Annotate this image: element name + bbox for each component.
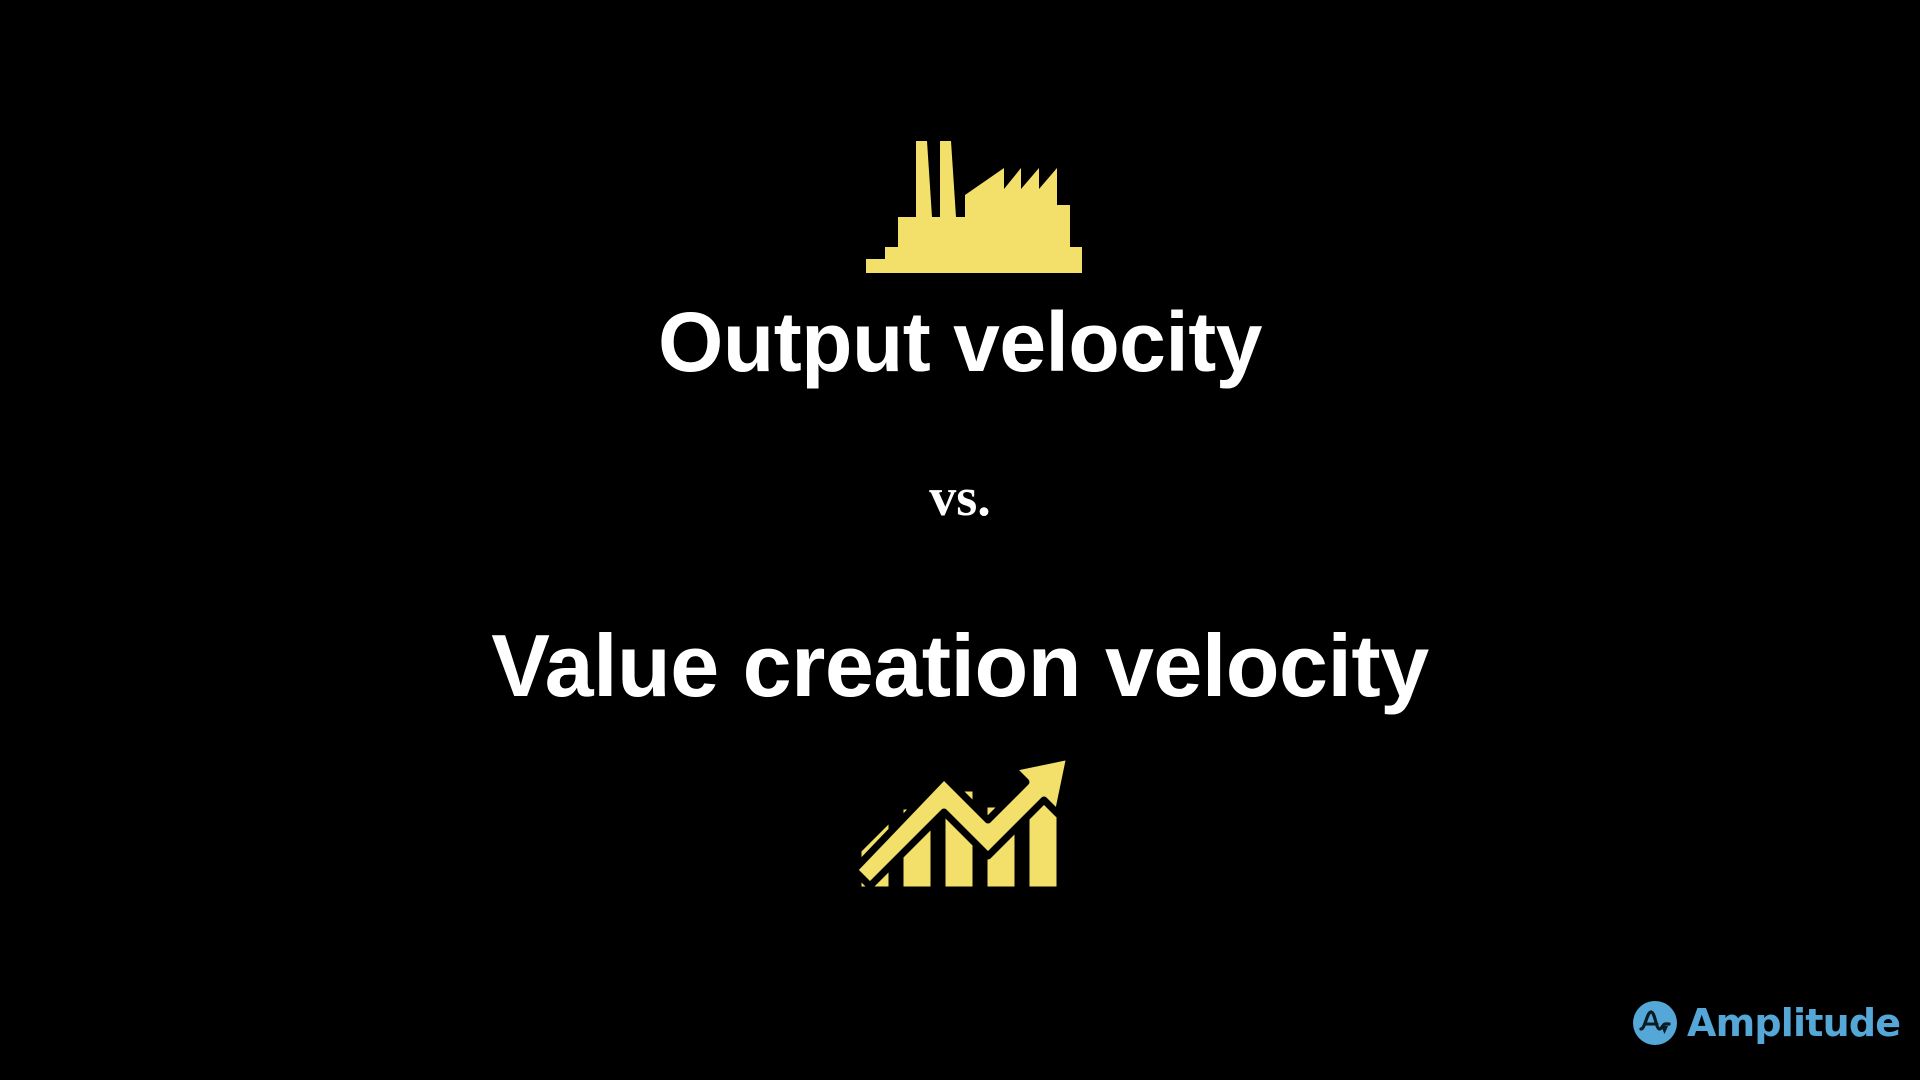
growth-chart-icon — [848, 712, 1080, 896]
factory-icon — [858, 133, 1082, 288]
separator-vs: vs. — [0, 470, 1920, 524]
amplitude-wordmark: Amplitude — [1687, 1004, 1900, 1042]
page-title-value-creation-velocity: Value creation velocity — [0, 622, 1920, 710]
amplitude-logo: Amplitude — [1632, 1000, 1900, 1046]
slide-canvas: Output velocity vs. Value creation veloc… — [0, 0, 1920, 1080]
page-title-output-velocity: Output velocity — [0, 300, 1920, 384]
amplitude-logo-mark-icon — [1632, 1000, 1678, 1046]
